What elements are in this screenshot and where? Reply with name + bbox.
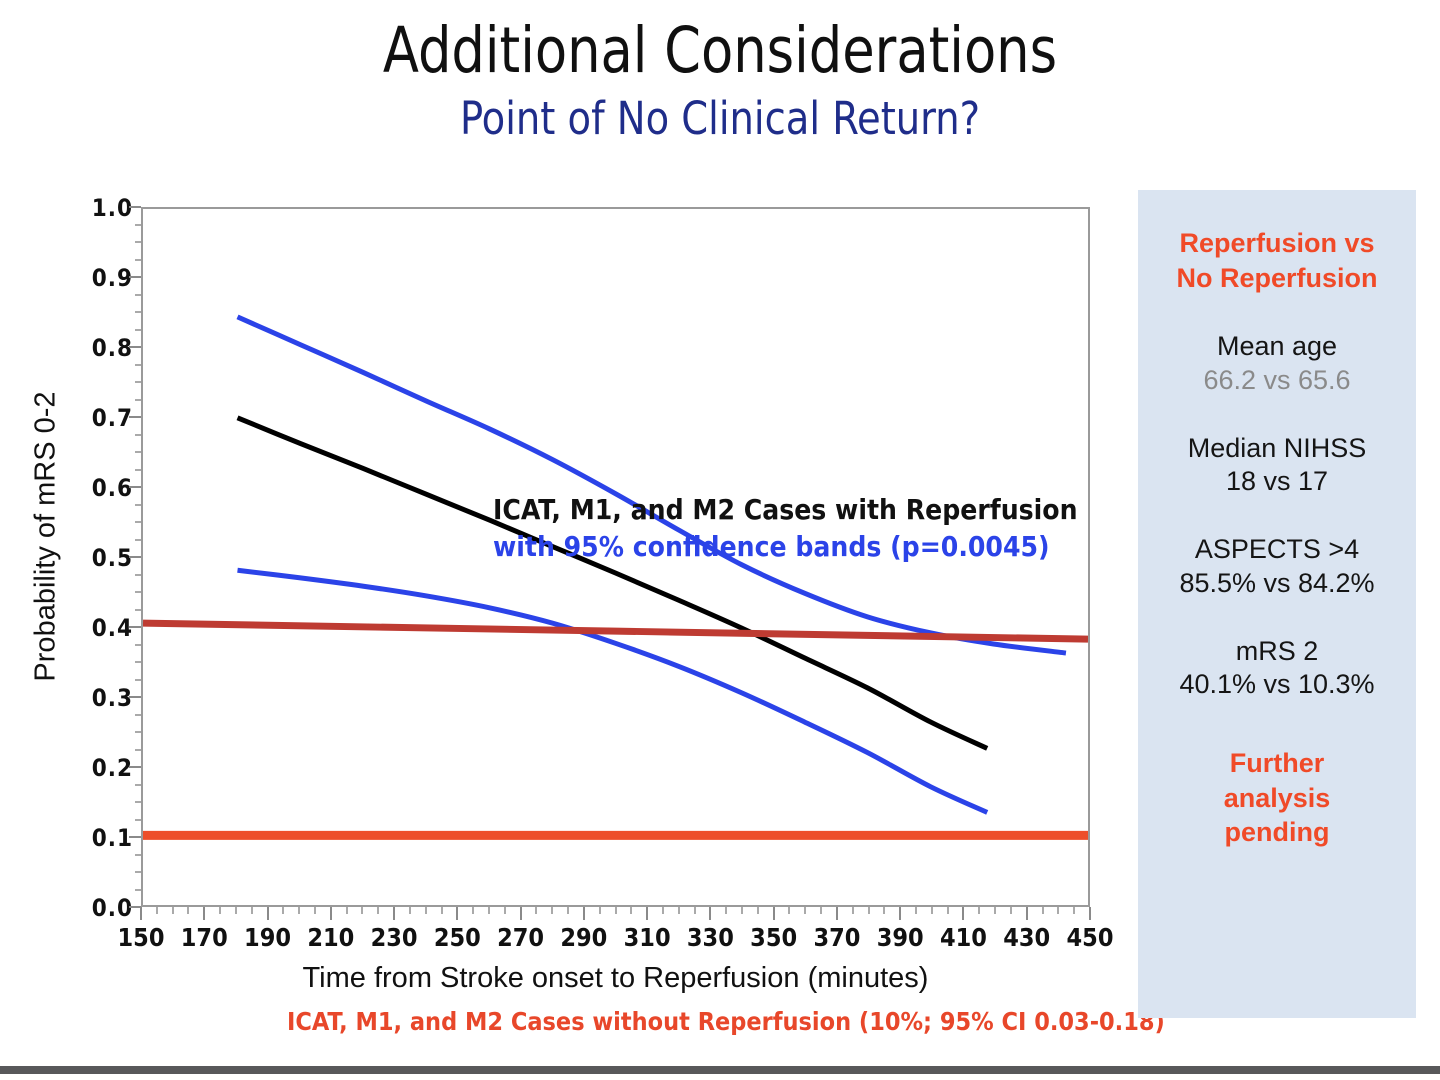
x-axis-tick-minor <box>678 907 680 914</box>
side-panel-heading: Reperfusion vs No Reperfusion <box>1138 226 1416 296</box>
x-axis-tick-minor <box>172 907 174 914</box>
x-axis-tick-minor <box>915 907 917 914</box>
x-axis-tick-minor <box>725 907 727 914</box>
side-panel-footer: Further analysis pending <box>1138 746 1416 850</box>
x-axis-tick-major <box>393 907 395 920</box>
plot-area: ICAT, M1, and M2 Cases with Reperfusion … <box>141 207 1090 907</box>
x-axis-tick-label: 450 <box>1055 923 1125 952</box>
x-axis-tick-major <box>1089 907 1091 920</box>
x-axis-tick-minor <box>994 907 996 914</box>
side-panel-stat-label: Mean age <box>1138 330 1416 364</box>
annotation-reperfusion-line2: with 95% confidence bands (p=0.0045) <box>493 528 1078 565</box>
x-axis-tick-minor <box>599 907 601 914</box>
x-axis-tick-major <box>709 907 711 920</box>
x-axis-tick-minor <box>741 907 743 914</box>
x-axis-tick-major <box>203 907 205 920</box>
x-axis-tick-minor <box>282 907 284 914</box>
x-axis-tick-major <box>583 907 585 920</box>
x-axis-tick-minor <box>1010 907 1012 914</box>
x-axis-tick-major <box>520 907 522 920</box>
y-axis-tick-label: 0.5 <box>71 544 133 572</box>
side-panel-stat: Mean age66.2 vs 65.6 <box>1138 330 1416 398</box>
y-axis-tick-label: 0.9 <box>71 264 133 292</box>
x-axis-tick-minor <box>156 907 158 914</box>
x-axis-tick-minor <box>488 907 490 914</box>
annotation-reperfusion-line1: ICAT, M1, and M2 Cases with Reperfusion <box>493 491 1078 528</box>
x-axis-tick-minor <box>219 907 221 914</box>
x-axis-tick-minor <box>567 907 569 914</box>
y-axis-tick-label: 0.4 <box>71 614 133 642</box>
side-panel-stat-value: 18 vs 17 <box>1138 465 1416 499</box>
side-panel-stat-label: Median NIHSS <box>1138 432 1416 466</box>
x-axis-tick-label: 390 <box>865 923 935 952</box>
x-axis-tick-minor <box>551 907 553 914</box>
x-axis-tick-label: 150 <box>106 923 176 952</box>
x-axis-tick-major <box>456 907 458 920</box>
x-axis-tick-label: 290 <box>549 923 619 952</box>
annotation-reperfusion: ICAT, M1, and M2 Cases with Reperfusion … <box>493 491 1078 565</box>
x-axis-tick-minor <box>441 907 443 914</box>
y-axis-tick-label: 0.1 <box>71 824 133 852</box>
x-axis-tick-label: 350 <box>739 923 809 952</box>
chart-series-line <box>143 623 1088 639</box>
y-axis-tick-major <box>129 486 141 488</box>
x-axis-tick-minor <box>235 907 237 914</box>
x-axis-tick-minor <box>346 907 348 914</box>
y-axis-tick-major <box>129 766 141 768</box>
x-axis-tick-minor <box>251 907 253 914</box>
x-axis-tick-minor <box>615 907 617 914</box>
annotation-no-reperfusion: ICAT, M1, and M2 Cases without Reperfusi… <box>287 1005 1165 1038</box>
x-axis-tick-minor <box>883 907 885 914</box>
x-axis-tick-minor <box>361 907 363 914</box>
x-axis-tick-major <box>773 907 775 920</box>
page-subtitle: Point of No Clinical Return? <box>36 92 1404 145</box>
y-axis-tick-major <box>129 626 141 628</box>
x-axis-tick-label: 330 <box>675 923 745 952</box>
x-axis-tick-minor <box>504 907 506 914</box>
chart-series-line <box>238 317 1066 653</box>
x-axis-tick-major <box>962 907 964 920</box>
x-axis-tick-minor <box>1073 907 1075 914</box>
chart-region: Probability of mRS 0-2 0.00.10.20.30.40.… <box>0 190 1120 1020</box>
x-axis-tick-minor <box>314 907 316 914</box>
y-axis-tick-major <box>129 276 141 278</box>
x-axis-tick-major <box>899 907 901 920</box>
y-axis-tick-label: 0.0 <box>71 894 133 922</box>
x-axis-tick-major <box>330 907 332 920</box>
y-axis-tick-label: 1.0 <box>71 194 133 222</box>
x-axis-tick-minor <box>425 907 427 914</box>
y-axis-tick-major <box>129 206 141 208</box>
side-panel-stat: mRS 240.1% vs 10.3% <box>1138 635 1416 703</box>
side-panel-stat-value: 40.1% vs 10.3% <box>1138 668 1416 702</box>
side-panel-stats: Mean age66.2 vs 65.6Median NIHSS18 vs 17… <box>1138 330 1416 702</box>
x-axis-tick-minor <box>852 907 854 914</box>
page-title: Additional Considerations <box>50 18 1389 84</box>
x-axis-tick-minor <box>472 907 474 914</box>
x-axis-tick-minor <box>1057 907 1059 914</box>
x-axis-tick-major <box>140 907 142 920</box>
x-axis-tick-labels: 1501701902102302502702903103303503703904… <box>141 923 1090 957</box>
x-axis-tick-label: 430 <box>992 923 1062 952</box>
x-axis-tick-label: 250 <box>422 923 492 952</box>
x-axis-tick-minor <box>820 907 822 914</box>
x-axis-tick-minor <box>694 907 696 914</box>
x-axis-tick-major <box>646 907 648 920</box>
y-axis-tick-label: 0.6 <box>71 474 133 502</box>
x-axis-tick-minor <box>535 907 537 914</box>
x-axis-tick-marks <box>141 907 1090 921</box>
x-axis-tick-minor <box>298 907 300 914</box>
x-axis-tick-label: 170 <box>169 923 239 952</box>
x-axis-tick-minor <box>757 907 759 914</box>
x-axis-tick-minor <box>377 907 379 914</box>
side-panel-stat: ASPECTS >485.5% vs 84.2% <box>1138 533 1416 601</box>
y-axis-title: Probability of mRS 0-2 <box>30 317 63 757</box>
x-axis-tick-minor <box>947 907 949 914</box>
side-panel-stat-label: ASPECTS >4 <box>1138 533 1416 567</box>
y-axis-tick-major <box>129 416 141 418</box>
y-axis-tick-marks <box>127 207 141 907</box>
x-axis-tick-label: 270 <box>486 923 556 952</box>
x-axis-tick-minor <box>409 907 411 914</box>
x-axis-tick-minor <box>868 907 870 914</box>
x-axis-tick-label: 230 <box>359 923 429 952</box>
y-axis-tick-major <box>129 836 141 838</box>
x-axis-tick-major <box>267 907 269 920</box>
x-axis-tick-label: 190 <box>233 923 303 952</box>
x-axis-tick-minor <box>931 907 933 914</box>
x-axis-tick-minor <box>978 907 980 914</box>
side-panel-stat-value: 66.2 vs 65.6 <box>1138 364 1416 398</box>
y-axis-tick-major <box>129 556 141 558</box>
x-axis-tick-minor <box>804 907 806 914</box>
y-axis-tick-label: 0.2 <box>71 754 133 782</box>
y-axis-tick-label: 0.3 <box>71 684 133 712</box>
x-axis-tick-minor <box>788 907 790 914</box>
side-panel-stat-label: mRS 2 <box>1138 635 1416 669</box>
x-axis-tick-label: 370 <box>802 923 872 952</box>
x-axis-tick-minor <box>630 907 632 914</box>
side-panel: Reperfusion vs No Reperfusion Mean age66… <box>1138 190 1416 1018</box>
x-axis-tick-minor <box>1042 907 1044 914</box>
side-panel-stat: Median NIHSS18 vs 17 <box>1138 432 1416 500</box>
x-axis-tick-major <box>836 907 838 920</box>
x-axis-tick-minor <box>187 907 189 914</box>
x-axis-tick-label: 410 <box>928 923 998 952</box>
x-axis-tick-label: 310 <box>612 923 682 952</box>
x-axis-title: Time from Stroke onset to Reperfusion (m… <box>141 962 1090 995</box>
x-axis-tick-major <box>1026 907 1028 920</box>
side-panel-stat-value: 85.5% vs 84.2% <box>1138 567 1416 601</box>
slide-title-block: Additional Considerations Point of No Cl… <box>0 18 1440 145</box>
x-axis-tick-minor <box>662 907 664 914</box>
y-axis-tick-label: 0.8 <box>71 334 133 362</box>
x-axis-tick-label: 210 <box>296 923 366 952</box>
y-axis-tick-label: 0.7 <box>71 404 133 432</box>
slide-bottom-bar <box>0 1066 1440 1074</box>
y-axis-tick-labels: 0.00.10.20.30.40.50.60.70.80.91.0 <box>63 207 133 907</box>
y-axis-tick-major <box>129 346 141 348</box>
y-axis-tick-major <box>129 696 141 698</box>
